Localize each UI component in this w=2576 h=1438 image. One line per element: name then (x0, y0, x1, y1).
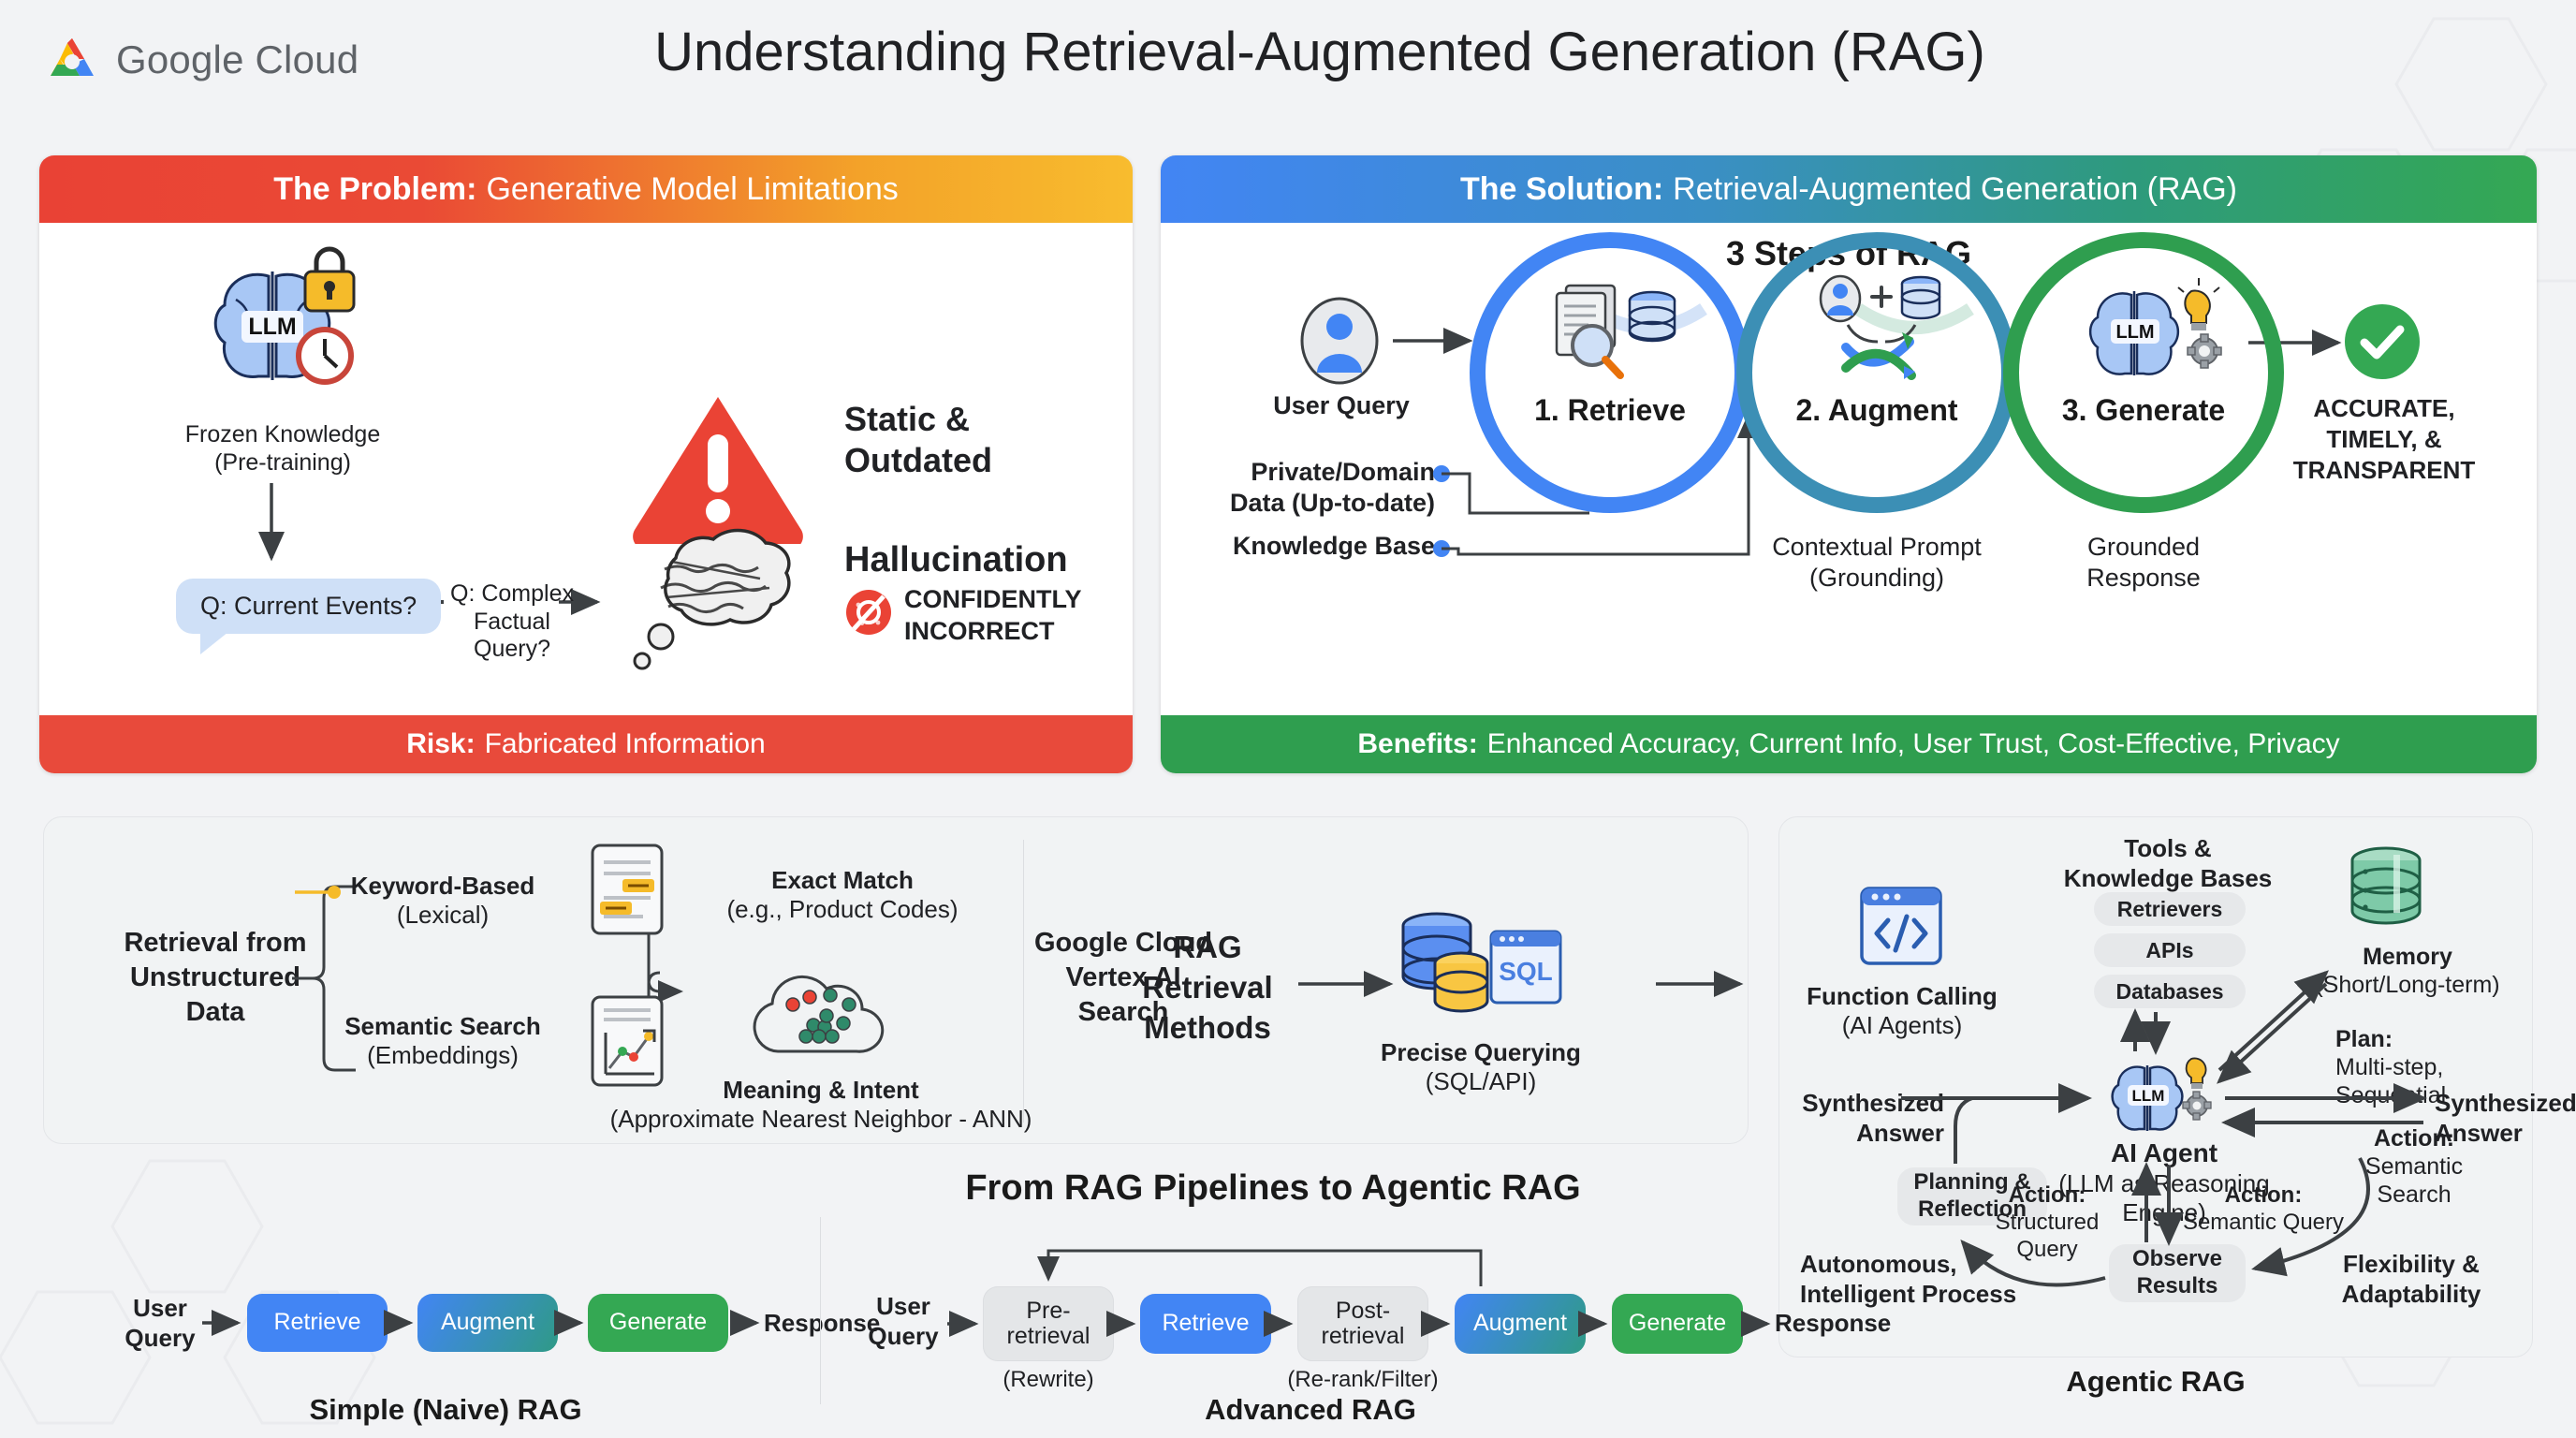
grounded-response-caption: Grounded Response (2008, 532, 2279, 594)
action-sq-line1: Action: (2009, 1182, 2086, 1208)
methods-line1: RAG (1173, 930, 1241, 964)
check-circle-icon (2342, 301, 2422, 382)
step-augment: 2. Augment (1736, 232, 2017, 513)
meaning-intent-line1: Meaning & Intent (723, 1076, 918, 1104)
static-line1: Static & (844, 400, 970, 438)
memory-line1: Memory (2363, 944, 2452, 970)
plan-line3: Sequential (2335, 1082, 2446, 1108)
precise-line2: (SQL/API) (1426, 1067, 1536, 1095)
private-line2: Data (Up-to-date) (1230, 489, 1435, 517)
pre-line1: Pre- (1026, 1299, 1070, 1325)
flexibility-adaptability-label: Flexibility & Adaptability (2304, 1250, 2519, 1309)
retrieval-root-label: Retrieval from Unstructured Data (80, 926, 351, 1030)
problem-panel-header: The Problem: Generative Model Limitation… (39, 155, 1133, 223)
observe-line2: Results (2137, 1273, 2218, 1300)
exact-match-line1: Exact Match (771, 866, 914, 894)
advanced-user-query-label: User Query (842, 1292, 964, 1351)
outcome-line1: ACCURATE, (2313, 394, 2454, 422)
step-retrieve-label: 1. Retrieve (1534, 393, 1686, 428)
simple-user-line1: User (133, 1294, 187, 1322)
llm-brain-bulb-gear-icon: LLM (2073, 274, 2223, 385)
simple-user-line2: Query (124, 1324, 195, 1352)
step-retrieve: 1. Retrieve (1470, 232, 1750, 513)
keyword-based-line1: Keyword-Based (351, 872, 535, 900)
frozen-knowledge-label: Frozen Knowledge (Pre-training) (133, 421, 432, 477)
plan-line2: Multi-step, (2335, 1054, 2443, 1080)
retrieval-methods-card: Retrieval from Unstructured Data Keyword… (43, 816, 1749, 1144)
plan-line1: Plan: (2335, 1026, 2393, 1052)
keyword-based-label: Keyword-Based (Lexical) (321, 872, 564, 930)
problem-header-strong: The Problem: (273, 171, 476, 208)
meaning-intent-line2: (Approximate Nearest Neighbor - ANN) (610, 1105, 1032, 1133)
static-line2: Outdated (844, 441, 992, 479)
hallucination-label: Hallucination (844, 539, 1133, 581)
sql-database-icon: SQL (1394, 907, 1568, 1029)
synth-left-line1: Synthesized (1802, 1089, 1944, 1117)
retrieval-root-line1: Retrieval from (124, 928, 306, 958)
adv-user-line1: User (876, 1292, 930, 1320)
no-entry-icon (844, 588, 893, 637)
flexibility-line2: Adaptability (2342, 1280, 2481, 1308)
observe-results-node[interactable]: Observe Results (2109, 1244, 2246, 1302)
node-augment-advanced[interactable]: Augment (1455, 1294, 1586, 1354)
hallucination-thought-cloud-icon (620, 521, 835, 689)
function-calling-line1: Function Calling (1807, 982, 1998, 1010)
action-semantic-query-label: Action: Semantic Query (2165, 1182, 2362, 1237)
post-line1: Post- (1336, 1299, 1390, 1325)
node-retrieve[interactable]: Retrieve (247, 1294, 388, 1352)
simple-rag-pipeline: User Query Retrieve Augment Generate Res… (43, 1245, 820, 1432)
static-outdated-label: Static & Outdated (844, 399, 1106, 481)
tools-knowledge-bases-label: Tools & Knowledge Bases (2051, 834, 2285, 893)
user-avatar-icon (1299, 296, 1380, 386)
semantic-search-line1: Semantic Search (344, 1012, 541, 1040)
complex-query-line1: Q: Complex (450, 580, 574, 607)
google-cloud-wordmark: Google Cloud (116, 37, 359, 82)
retrieval-root-line3: Data (186, 997, 245, 1027)
node-post-retrieval[interactable]: Post- retrieval (1297, 1286, 1428, 1361)
confidently-incorrect-label: CONFIDENTLY INCORRECT (904, 584, 1133, 648)
outcome-line3: TRANSPARENT (2293, 456, 2476, 484)
step-generate-label: 3. Generate (2062, 393, 2225, 428)
grounded-response-line1: Grounded (2087, 533, 2200, 561)
benefits-light: Enhanced Accuracy, Current Info, User Tr… (1487, 728, 2340, 760)
synthesized-answer-right-label: Synthesized Answer (2435, 1089, 2576, 1148)
page-title: Understanding Retrieval-Augmented Genera… (524, 21, 2115, 83)
autonomous-line2: Intelligent Process (1800, 1280, 2016, 1308)
pre-line2: retrieval (1007, 1324, 1090, 1350)
memory-label: Memory (Short/Long-term) (2300, 943, 2515, 999)
solution-panel-body: 3 Steps of RAG User Query Private/Domain… (1161, 223, 2537, 715)
flexibility-line1: Flexibility & (2343, 1250, 2480, 1278)
node-generate-advanced[interactable]: Generate (1612, 1294, 1743, 1354)
document-search-database-icon (1544, 280, 1684, 383)
code-window-icon (1856, 881, 1946, 971)
current-events-question-bubble: Q: Current Events? (176, 579, 441, 634)
complex-factual-query-label: Q: Complex Factual Query? (442, 580, 582, 664)
adv-user-line2: Query (868, 1322, 938, 1350)
svg-text:SQL: SQL (1499, 957, 1553, 986)
ai-agent-title: AI Agent (2111, 1138, 2217, 1167)
solution-panel-header: The Solution: Retrieval-Augmented Genera… (1161, 155, 2537, 223)
node-augment[interactable]: Augment (417, 1294, 558, 1352)
contextual-prompt-caption: Contextual Prompt (Grounding) (1718, 532, 2036, 594)
action-semq-line1: Action: (2225, 1182, 2303, 1208)
solution-panel-footer: Benefits: Enhanced Accuracy, Current Inf… (1161, 715, 2537, 773)
user-query-label: User Query (1252, 391, 1430, 421)
precise-querying-label: Precise Querying (SQL/API) (1354, 1038, 1607, 1096)
pipeline-divider (820, 1217, 821, 1404)
step-augment-label: 2. Augment (1795, 393, 1957, 428)
chart-document-icon (587, 993, 667, 1089)
contextual-prompt-line1: Contextual Prompt (1772, 533, 1982, 561)
highlighted-document-icon (587, 842, 667, 937)
node-retrieve-advanced[interactable]: Retrieve (1140, 1294, 1271, 1354)
function-calling-label: Function Calling (AI Agents) (1804, 982, 2000, 1040)
tag-retrievers[interactable]: Retrievers (2094, 892, 2246, 926)
knowledge-base-label: Knowledge Base (1187, 532, 1435, 562)
methods-line3: Methods (1144, 1010, 1271, 1045)
tools-line2: Knowledge Bases (2064, 864, 2273, 892)
action-ss-line2: Semantic (2365, 1153, 2463, 1180)
svg-text:LLM: LLM (2115, 322, 2154, 343)
synth-right-line1: Synthesized (2435, 1089, 2576, 1117)
function-calling-line2: (AI Agents) (1842, 1011, 1963, 1039)
frozen-knowledge-line1: Frozen Knowledge (185, 421, 380, 448)
retrieval-root-line2: Unstructured (130, 962, 300, 992)
outcome-label: ACCURATE, TIMELY, & TRANSPARENT (2286, 393, 2482, 485)
frozen-knowledge-line2: (Pre-training) (214, 449, 351, 476)
risk-light: Fabricated Information (485, 728, 766, 760)
memory-database-icon (2339, 844, 2433, 935)
simple-rag-caption: Simple (Naive) RAG (165, 1393, 726, 1427)
simple-user-query-label: User Query (99, 1294, 221, 1353)
brand-cloud: Cloud (256, 37, 359, 81)
node-pre-retrieval[interactable]: Pre- retrieval (983, 1286, 1114, 1361)
problem-panel-footer: Risk: Fabricated Information (39, 715, 1133, 773)
agentic-rag-caption: Agentic RAG (1778, 1365, 2533, 1399)
google-cloud-logo-icon (45, 36, 99, 84)
advanced-response-label: Response (1775, 1309, 1925, 1338)
post-retrieval-sub: (Re-rank/Filter) (1279, 1367, 1447, 1393)
problem-panel: The Problem: Generative Model Limitation… (39, 155, 1133, 773)
complex-query-line2: Factual Query? (474, 609, 550, 663)
action-sq-line2: Structured (1996, 1210, 2100, 1235)
rag-retrieval-methods-label: RAG Retrieval Methods (1072, 928, 1343, 1049)
google-cloud-logo: Google Cloud (45, 36, 359, 84)
advanced-rag-pipeline: User Query Pre- retrieval (Rewrite) Retr… (842, 1245, 1769, 1432)
autonomous-process-label: Autonomous, Intelligent Process (1800, 1250, 2071, 1309)
observe-line1: Observe (2132, 1246, 2222, 1273)
tag-apis[interactable]: APIs (2094, 933, 2246, 967)
grounded-response-line2: Response (2086, 564, 2201, 592)
semantic-search-line2: (Embeddings) (367, 1041, 519, 1069)
action-semq-line2: Semantic Query (2183, 1210, 2344, 1235)
problem-panel-body: LLM Frozen Knowledge (Pre-training) (39, 223, 1133, 715)
step-generate: LLM 3. Generate (2003, 232, 2284, 513)
outcome-line2: TIMELY, & (2326, 425, 2441, 453)
tag-databases[interactable]: Databases (2094, 975, 2246, 1008)
synth-left-line2: Answer (1856, 1119, 1944, 1147)
embedding-cloud-icon (740, 971, 890, 1068)
exact-match-line2: (e.g., Product Codes) (726, 895, 958, 923)
advanced-rag-caption: Advanced RAG (1030, 1393, 1591, 1427)
synthesized-answer-left-label: Synthesized Answer (1766, 1089, 1944, 1148)
confidently-line2: INCORRECT (904, 617, 1055, 645)
precise-line1: Precise Querying (1381, 1038, 1581, 1066)
svg-text:LLM: LLM (248, 314, 296, 340)
benefits-strong: Benefits: (1357, 728, 1477, 760)
header: Google Cloud Understanding Retrieval-Aug… (0, 0, 2576, 140)
exact-match-label: Exact Match (e.g., Product Codes) (688, 866, 997, 924)
confidently-line1: CONFIDENTLY (904, 585, 1082, 613)
brand-google: Google (116, 37, 244, 81)
private-line1: Private/Domain (1251, 458, 1435, 486)
contextual-prompt-line2: (Grounding) (1809, 564, 1944, 592)
autonomous-line1: Autonomous, (1800, 1250, 1957, 1278)
private-domain-data-label: Private/Domain Data (Up-to-date) (1187, 457, 1435, 519)
pre-retrieval-sub: (Rewrite) (983, 1367, 1114, 1393)
risk-strong: Risk: (406, 728, 475, 760)
solution-panel: The Solution: Retrieval-Augmented Genera… (1161, 155, 2537, 773)
llm-brain-lock-clock-icon: LLM (180, 243, 386, 421)
tools-line1: Tools & (2124, 834, 2211, 862)
node-generate[interactable]: Generate (588, 1294, 728, 1352)
post-line2: retrieval (1322, 1324, 1405, 1350)
methods-line2: Retrieval (1142, 970, 1272, 1005)
pipelines-title: From RAG Pipelines to Agentic RAG (805, 1168, 1741, 1209)
solution-header-light: Retrieval-Augmented Generation (RAG) (1673, 171, 2237, 208)
solution-header-strong: The Solution: (1460, 171, 1663, 208)
problem-header-light: Generative Model Limitations (486, 171, 898, 208)
synth-right-line2: Answer (2435, 1119, 2523, 1147)
action-ss-line3: Search (2377, 1181, 2451, 1208)
meaning-intent-label: Meaning & Intent (Approximate Nearest Ne… (606, 1076, 1036, 1134)
svg-text:LLM: LLM (2132, 1087, 2165, 1105)
semantic-search-label: Semantic Search (Embeddings) (321, 1012, 564, 1070)
ai-agent-brain-icon: LLM (2100, 1053, 2219, 1139)
memory-line2: (Short/Long-term) (2315, 972, 2499, 998)
merge-user-database-icon (1810, 274, 1951, 387)
agentic-rag-card: Function Calling (AI Agents) Tools & Kno… (1778, 816, 2533, 1357)
keyword-based-line2: (Lexical) (397, 901, 489, 929)
